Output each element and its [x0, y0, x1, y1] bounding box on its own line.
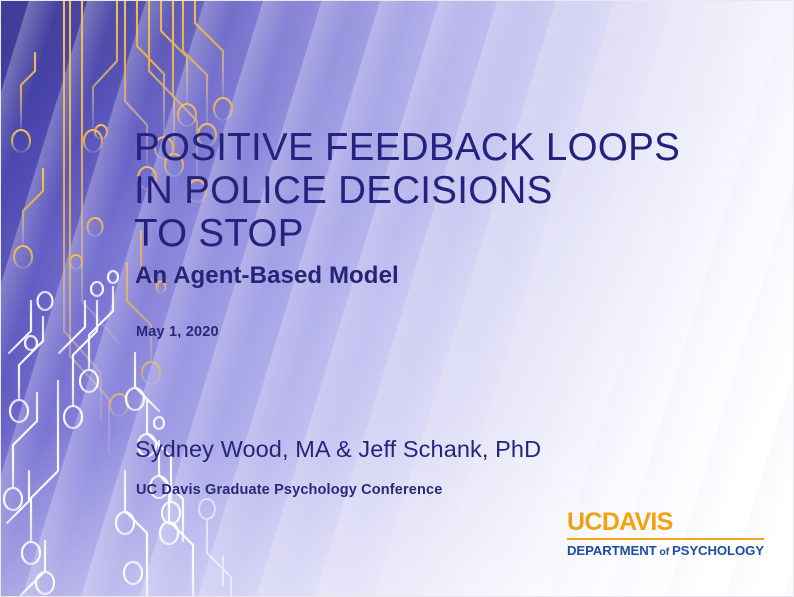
- presentation-date: May 1, 2020: [136, 324, 219, 340]
- logo-department-line: DEPARTMENT of PSYCHOLOGY: [567, 543, 764, 560]
- title-slide: POSITIVE FEEDBACK LOOPS IN POLICE DECISI…: [0, 0, 794, 597]
- logo-of-text: of: [657, 546, 672, 558]
- logo-davis-text: DAVIS: [602, 508, 673, 536]
- uc-davis-wordmark: UCDAVIS: [567, 510, 764, 535]
- page-title: POSITIVE FEEDBACK LOOPS IN POLICE DECISI…: [134, 126, 734, 255]
- logo-department-text: DEPARTMENT: [567, 543, 657, 558]
- logo-psychology-text: PSYCHOLOGY: [672, 543, 764, 558]
- author-names: Sydney Wood, MA & Jeff Schank, PhD: [135, 436, 541, 463]
- logo-uc-text: UC: [567, 508, 602, 536]
- uc-davis-logo: UCDAVIS DEPARTMENT of PSYCHOLOGY: [567, 510, 764, 561]
- logo-divider-rule: [567, 538, 764, 541]
- affiliation-text: UC Davis Graduate Psychology Conference: [136, 482, 442, 498]
- slide-subtitle: An Agent-Based Model: [135, 262, 399, 290]
